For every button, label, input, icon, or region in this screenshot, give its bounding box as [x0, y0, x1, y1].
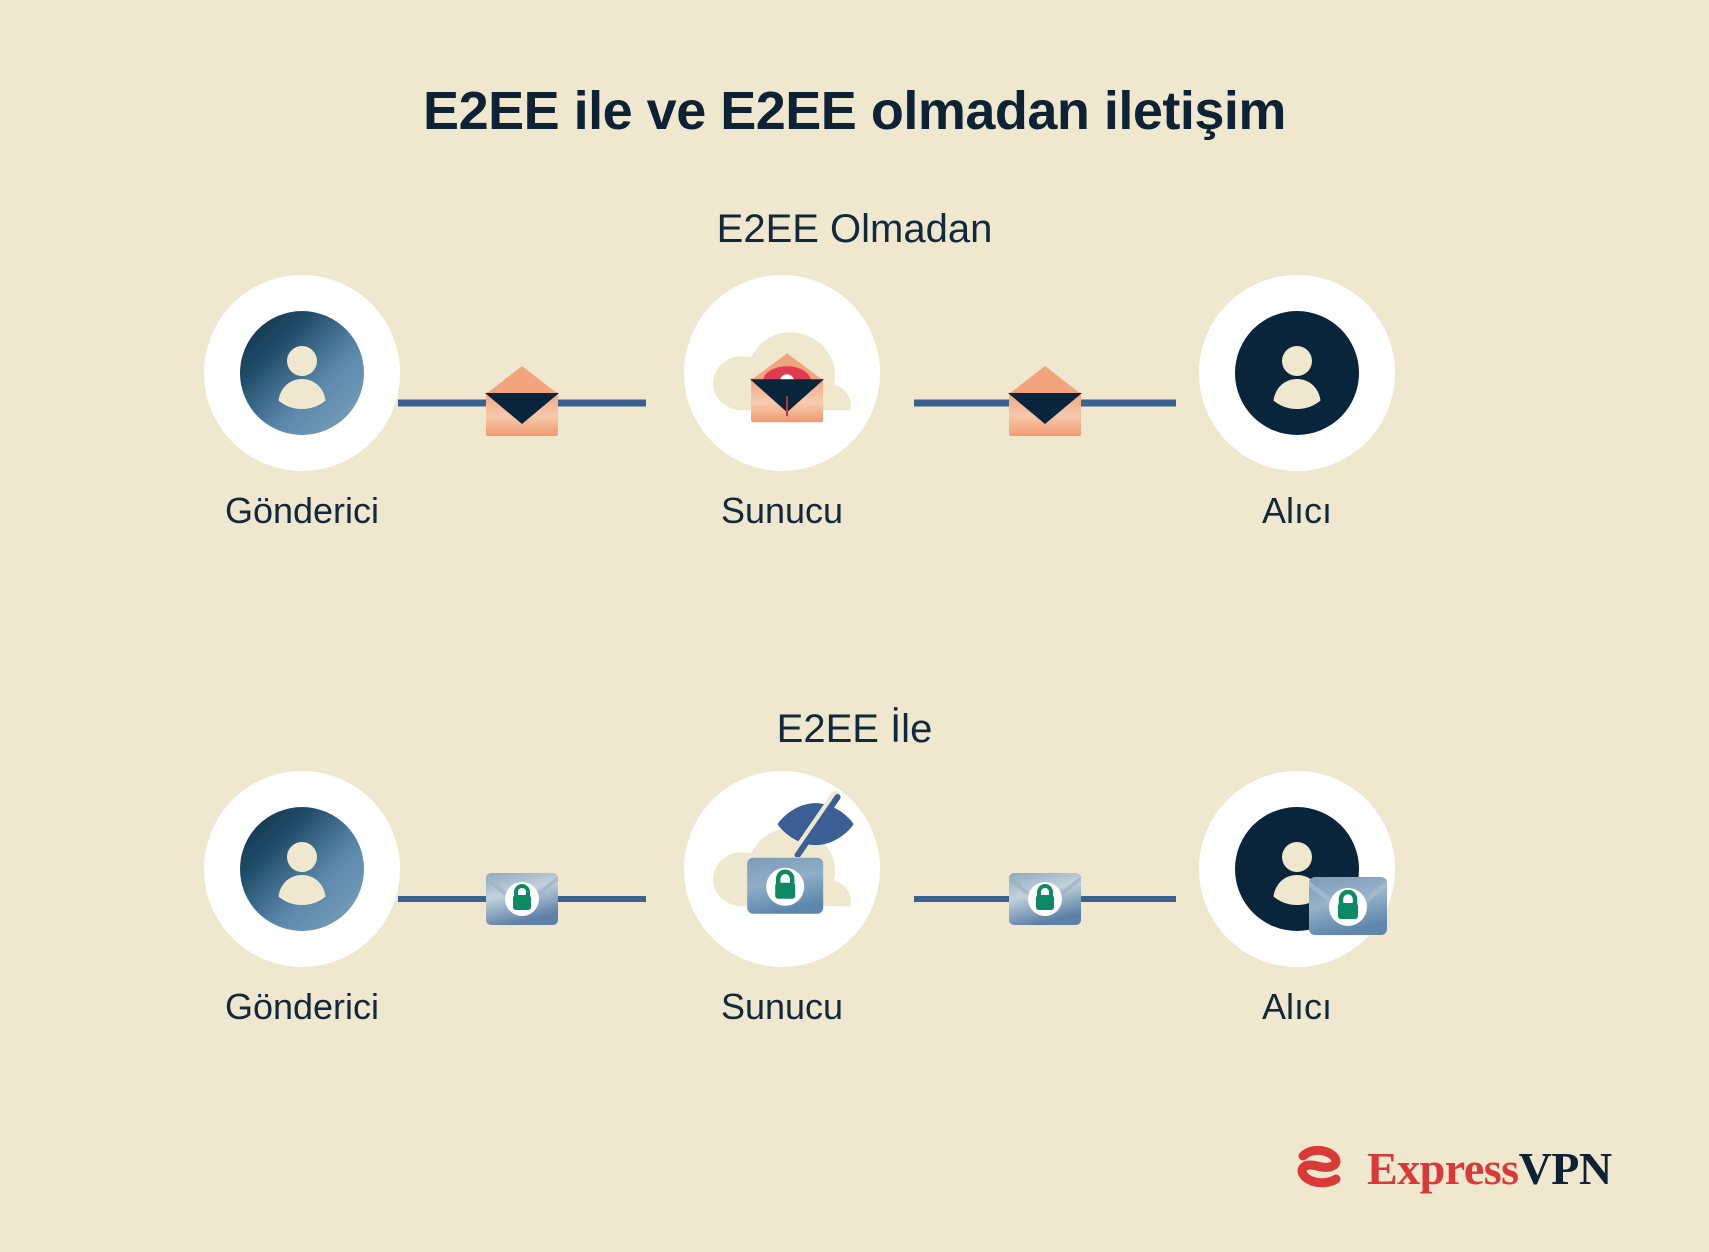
locked-envelope-badge-icon — [1307, 875, 1389, 937]
link-sender-to-server-without-e2ee — [398, 373, 646, 433]
node-server-without-e2ee[interactable]: Sunucu — [652, 275, 912, 532]
link-server-to-receiver-with-e2ee — [914, 869, 1176, 929]
section-heading-with-e2ee: E2EE İle — [0, 705, 1709, 753]
node-receiver-with-e2ee[interactable]: Alıcı — [1167, 771, 1427, 1028]
section-with-e2ee: E2EE İle Gönderici — [0, 705, 1709, 1071]
person-silhouette-icon — [266, 337, 338, 409]
link-server-to-receiver-without-e2ee — [914, 373, 1176, 433]
server-disc — [684, 771, 880, 967]
sender-label: Gönderici — [172, 985, 432, 1028]
infographic-canvas: E2EE ile ve E2EE olmadan iletişim E2EE O… — [0, 0, 1709, 1252]
expressvpn-e-mark-icon — [1295, 1140, 1353, 1198]
eye-slash-icon — [774, 791, 858, 857]
server-label: Sunucu — [652, 489, 912, 532]
section-without-e2ee: E2EE Olmadan Gönderici — [0, 205, 1709, 575]
person-silhouette-icon — [266, 833, 338, 905]
locked-envelope-icon — [745, 856, 825, 916]
logo-text-vpn: VPN — [1519, 1143, 1612, 1194]
open-envelope-icon — [476, 362, 568, 444]
node-server-with-e2ee[interactable]: Sunucu — [652, 771, 912, 1028]
link-sender-to-server-with-e2ee — [398, 869, 646, 929]
sender-disc — [204, 771, 400, 967]
logo-wordmark: ExpressVPN — [1367, 1146, 1612, 1192]
page-title: E2EE ile ve E2EE olmadan iletişim — [0, 80, 1709, 142]
node-sender-without-e2ee[interactable]: Gönderici — [172, 275, 432, 532]
receiver-disc — [1199, 275, 1395, 471]
locked-envelope-icon — [484, 871, 560, 927]
open-envelope-icon — [999, 362, 1091, 444]
expressvpn-logo[interactable]: ExpressVPN — [1295, 1140, 1612, 1198]
flow-row-without-e2ee: Gönderici — [0, 275, 1709, 575]
sender-label: Gönderici — [172, 489, 432, 532]
section-heading-without-e2ee: E2EE Olmadan — [0, 205, 1709, 253]
server-label: Sunucu — [652, 985, 912, 1028]
server-disc — [684, 275, 880, 471]
flow-row-with-e2ee: Gönderici — [0, 771, 1709, 1071]
open-envelope-with-red-eye-icon — [745, 350, 829, 426]
person-avatar-gradient-icon — [240, 807, 364, 931]
receiver-label: Alıcı — [1167, 985, 1427, 1028]
person-avatar-dark-icon — [1235, 311, 1359, 435]
person-silhouette-icon — [1261, 337, 1333, 409]
receiver-label: Alıcı — [1167, 489, 1427, 532]
node-receiver-without-e2ee[interactable]: Alıcı — [1167, 275, 1427, 532]
person-avatar-gradient-icon — [240, 311, 364, 435]
node-sender-with-e2ee[interactable]: Gönderici — [172, 771, 432, 1028]
sender-disc — [204, 275, 400, 471]
logo-text-express: Express — [1367, 1143, 1519, 1194]
receiver-disc — [1199, 771, 1395, 967]
locked-envelope-icon — [1007, 871, 1083, 927]
